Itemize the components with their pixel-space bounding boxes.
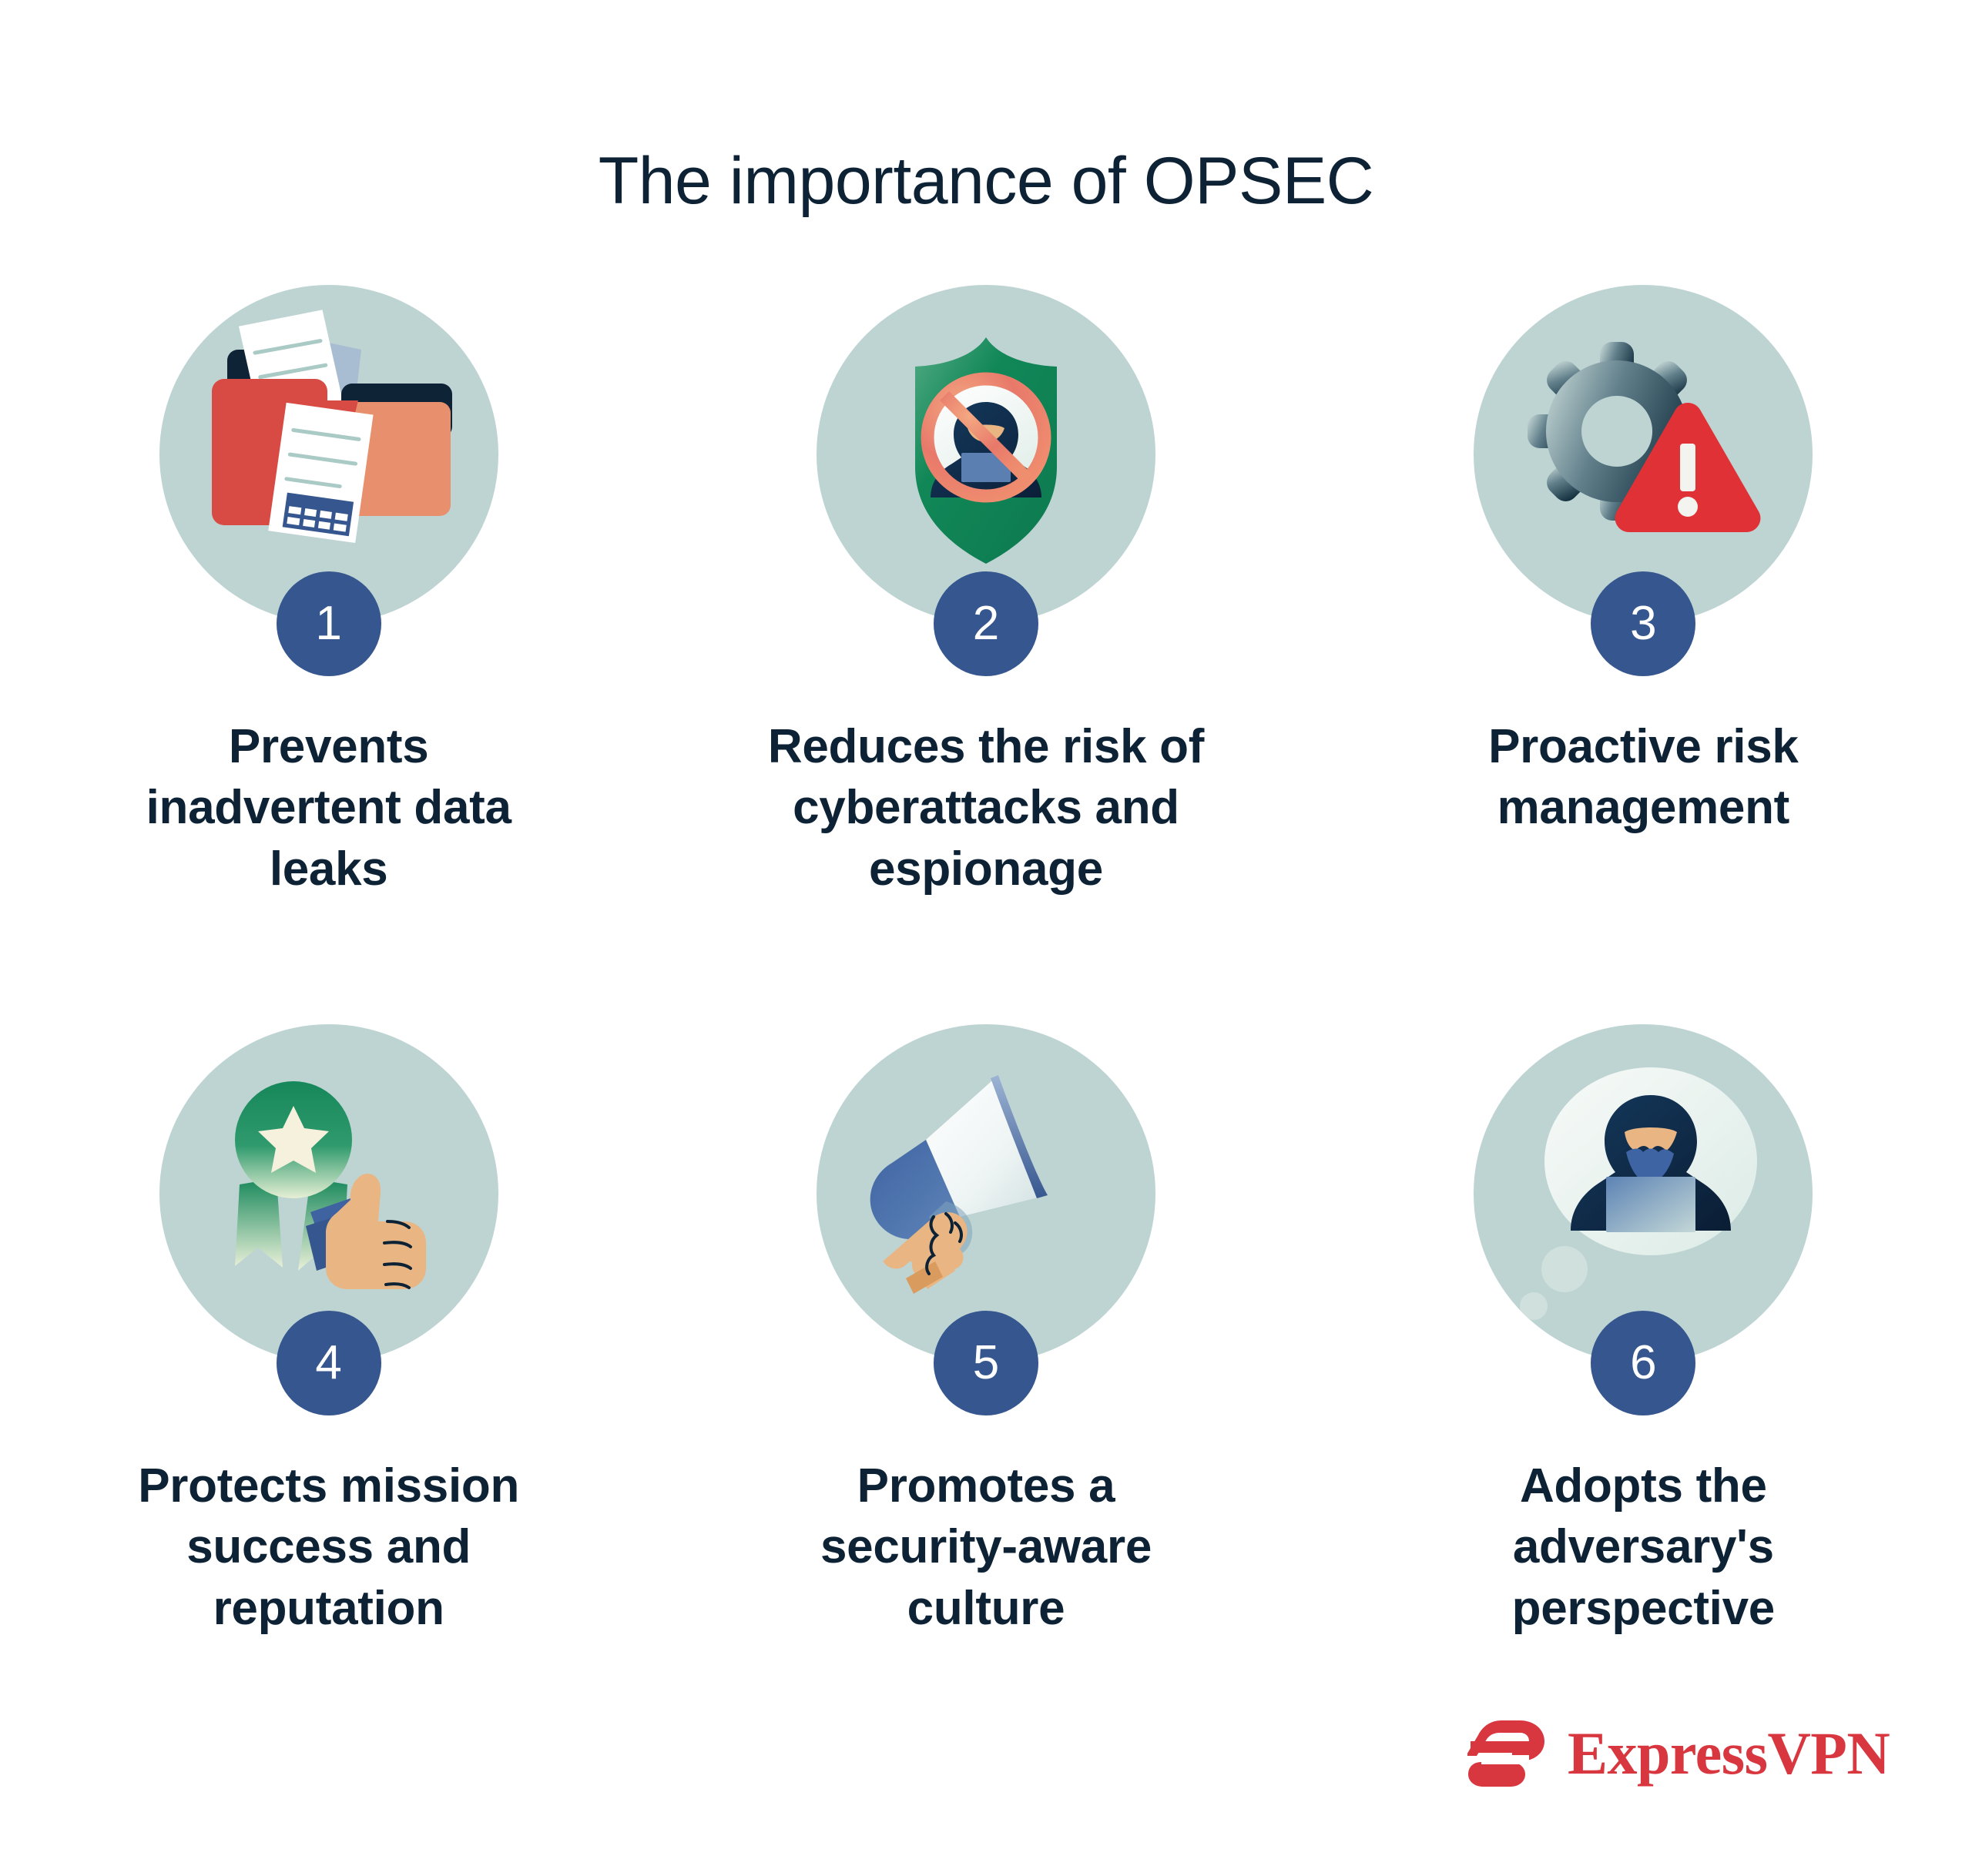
page-title: The importance of OPSEC (0, 145, 1972, 218)
icon-circle-6: 6 (1474, 1024, 1813, 1363)
benefit-label-1: Prevents inadvertent data leaks (98, 716, 560, 899)
benefit-item-4: 4 Protects mission success and reputatio… (36, 1024, 622, 1764)
benefit-item-2: 2 Reduces the risk of cyberattacks and e… (693, 285, 1279, 1024)
badge-number-2: 2 (934, 571, 1038, 676)
expressvpn-logo-text: ExpressVPN (1568, 1724, 1890, 1784)
icon-circle-1: 1 (159, 285, 498, 624)
benefit-item-6: 6 Adopts the adversary's perspective (1350, 1024, 1936, 1764)
badge-number-1: 1 (277, 571, 381, 676)
badge-number-3: 3 (1591, 571, 1695, 676)
benefit-label-4: Protects mission success and reputation (98, 1456, 560, 1639)
expressvpn-logo: ExpressVPN (1467, 1719, 1890, 1788)
badge-number-5: 5 (934, 1311, 1038, 1415)
benefit-label-5: Promotes a security-aware culture (755, 1456, 1217, 1639)
icon-circle-4: 4 (159, 1024, 498, 1363)
badge-number-4: 4 (277, 1311, 381, 1415)
benefit-item-5: 5 Promotes a security-aware culture (693, 1024, 1279, 1764)
badge-number-6: 6 (1591, 1311, 1695, 1415)
icon-circle-3: 3 (1474, 285, 1813, 624)
infographic-page: The importance of OPSEC (0, 0, 1972, 1876)
benefits-grid: 1 Prevents inadvertent data leaks (0, 285, 1972, 1764)
expressvpn-e-mark-icon (1467, 1719, 1548, 1788)
icon-circle-2: 2 (817, 285, 1155, 624)
benefit-item-3: 3 Proactive risk management (1350, 285, 1936, 1024)
icon-circle-5: 5 (817, 1024, 1155, 1363)
benefit-label-2: Reduces the risk of cyberattacks and esp… (755, 716, 1217, 899)
benefit-label-3: Proactive risk management (1412, 716, 1874, 839)
benefit-label-6: Adopts the adversary's perspective (1412, 1456, 1874, 1639)
benefit-item-1: 1 Prevents inadvertent data leaks (36, 285, 622, 1024)
